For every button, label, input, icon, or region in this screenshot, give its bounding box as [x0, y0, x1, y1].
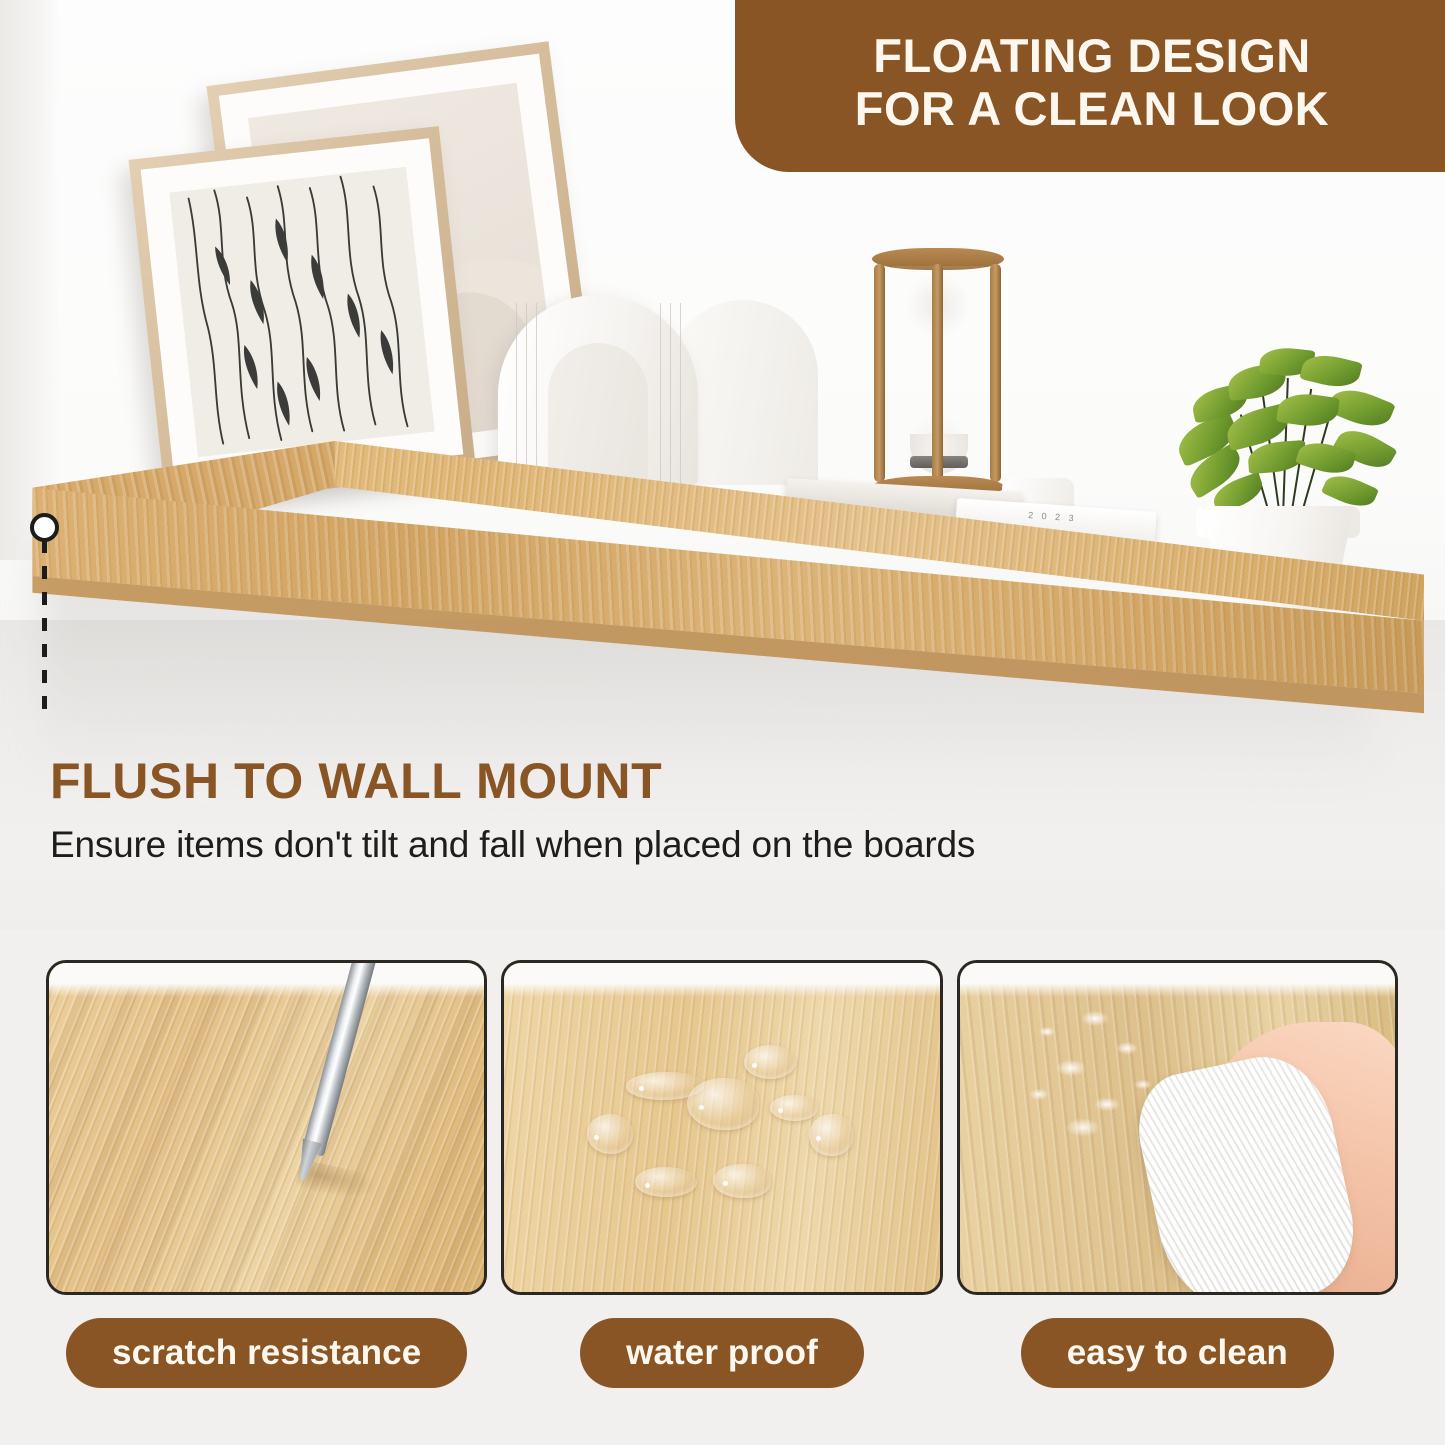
banner-line-2: FOR A CLEAN LOOK: [855, 83, 1330, 136]
panel-top-highlight: [504, 963, 939, 997]
badge-slot: scratch resistance: [46, 1318, 487, 1388]
water-droplet: [713, 1164, 771, 1198]
feature-badge-row: scratch resistance water proof easy to c…: [46, 1318, 1398, 1388]
wood-surface: [49, 963, 484, 1292]
flush-mount-dot-icon: [30, 513, 59, 542]
feature-panel-water-proof: [501, 960, 942, 1295]
header-banner: FLOATING DESIGN FOR A CLEAN LOOK: [735, 0, 1445, 172]
callout-dashed-line: [42, 540, 47, 722]
frame-artwork-lines: [169, 167, 434, 457]
water-droplet: [635, 1167, 697, 1197]
water-droplet: [744, 1045, 796, 1079]
panel-top-highlight: [49, 963, 484, 997]
water-droplet: [587, 1114, 633, 1154]
water-droplet: [687, 1078, 759, 1130]
badge-scratch-resistance: scratch resistance: [66, 1318, 467, 1388]
frame-mat: [141, 138, 464, 485]
floating-shelf: [24, 436, 1424, 716]
hero-subhead: Ensure items don't tilt and fall when pl…: [50, 824, 975, 866]
badge-water-proof: water proof: [580, 1318, 864, 1388]
product-feature-image: 2 0 2 3 ПОЛ АРДЕН УРОКИ ТВОРЧЕСКОГО: [0, 0, 1445, 1445]
badge-slot: water proof: [501, 1318, 942, 1388]
badge-slot: easy to clean: [957, 1318, 1398, 1388]
water-droplet: [809, 1114, 853, 1156]
feature-panel-row: [46, 960, 1398, 1295]
feature-panel-easy-to-clean: [957, 960, 1398, 1295]
feature-panel-scratch-resistance: [46, 960, 487, 1295]
banner-line-1: FLOATING DESIGN: [873, 30, 1310, 83]
line-art-icon: [169, 167, 434, 457]
badge-easy-to-clean: easy to clean: [1021, 1318, 1334, 1388]
panel-top-highlight: [960, 963, 1395, 997]
hero-headline: FLUSH TO WALL MOUNT: [50, 752, 662, 810]
water-droplet: [770, 1095, 818, 1121]
